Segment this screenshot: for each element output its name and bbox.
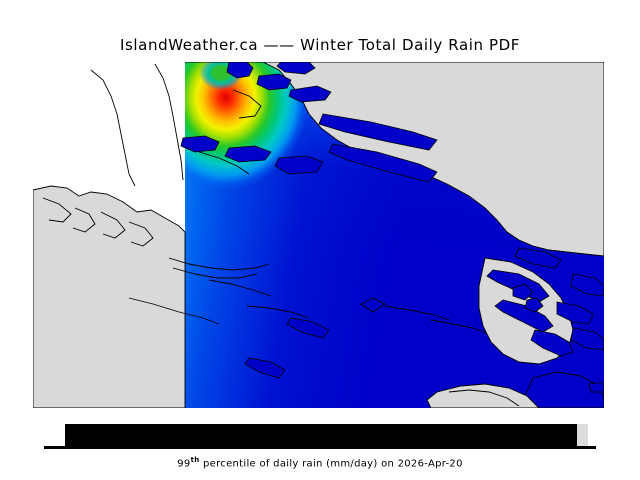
colorbar-axis-line bbox=[44, 446, 596, 449]
colorbar-caption: 99th percentile of daily rain (mm/day) o… bbox=[0, 456, 640, 469]
caption-text: percentile of daily rain (mm/day) on 202… bbox=[200, 458, 463, 469]
rain-hotspot-secondary-north bbox=[199, 62, 243, 90]
page-title: IslandWeather.ca —— Winter Total Daily R… bbox=[0, 36, 640, 54]
map-panel[interactable] bbox=[33, 62, 604, 408]
colorbar-container[interactable] bbox=[44, 424, 596, 450]
colorbar-gradient[interactable] bbox=[65, 424, 577, 446]
rain-data-raster bbox=[185, 62, 604, 408]
colorbar-overflow-swatch bbox=[577, 424, 588, 446]
caption-percentile-suffix: th bbox=[191, 456, 200, 464]
unmapped-region bbox=[33, 62, 185, 408]
caption-percentile-number: 99 bbox=[177, 458, 190, 469]
